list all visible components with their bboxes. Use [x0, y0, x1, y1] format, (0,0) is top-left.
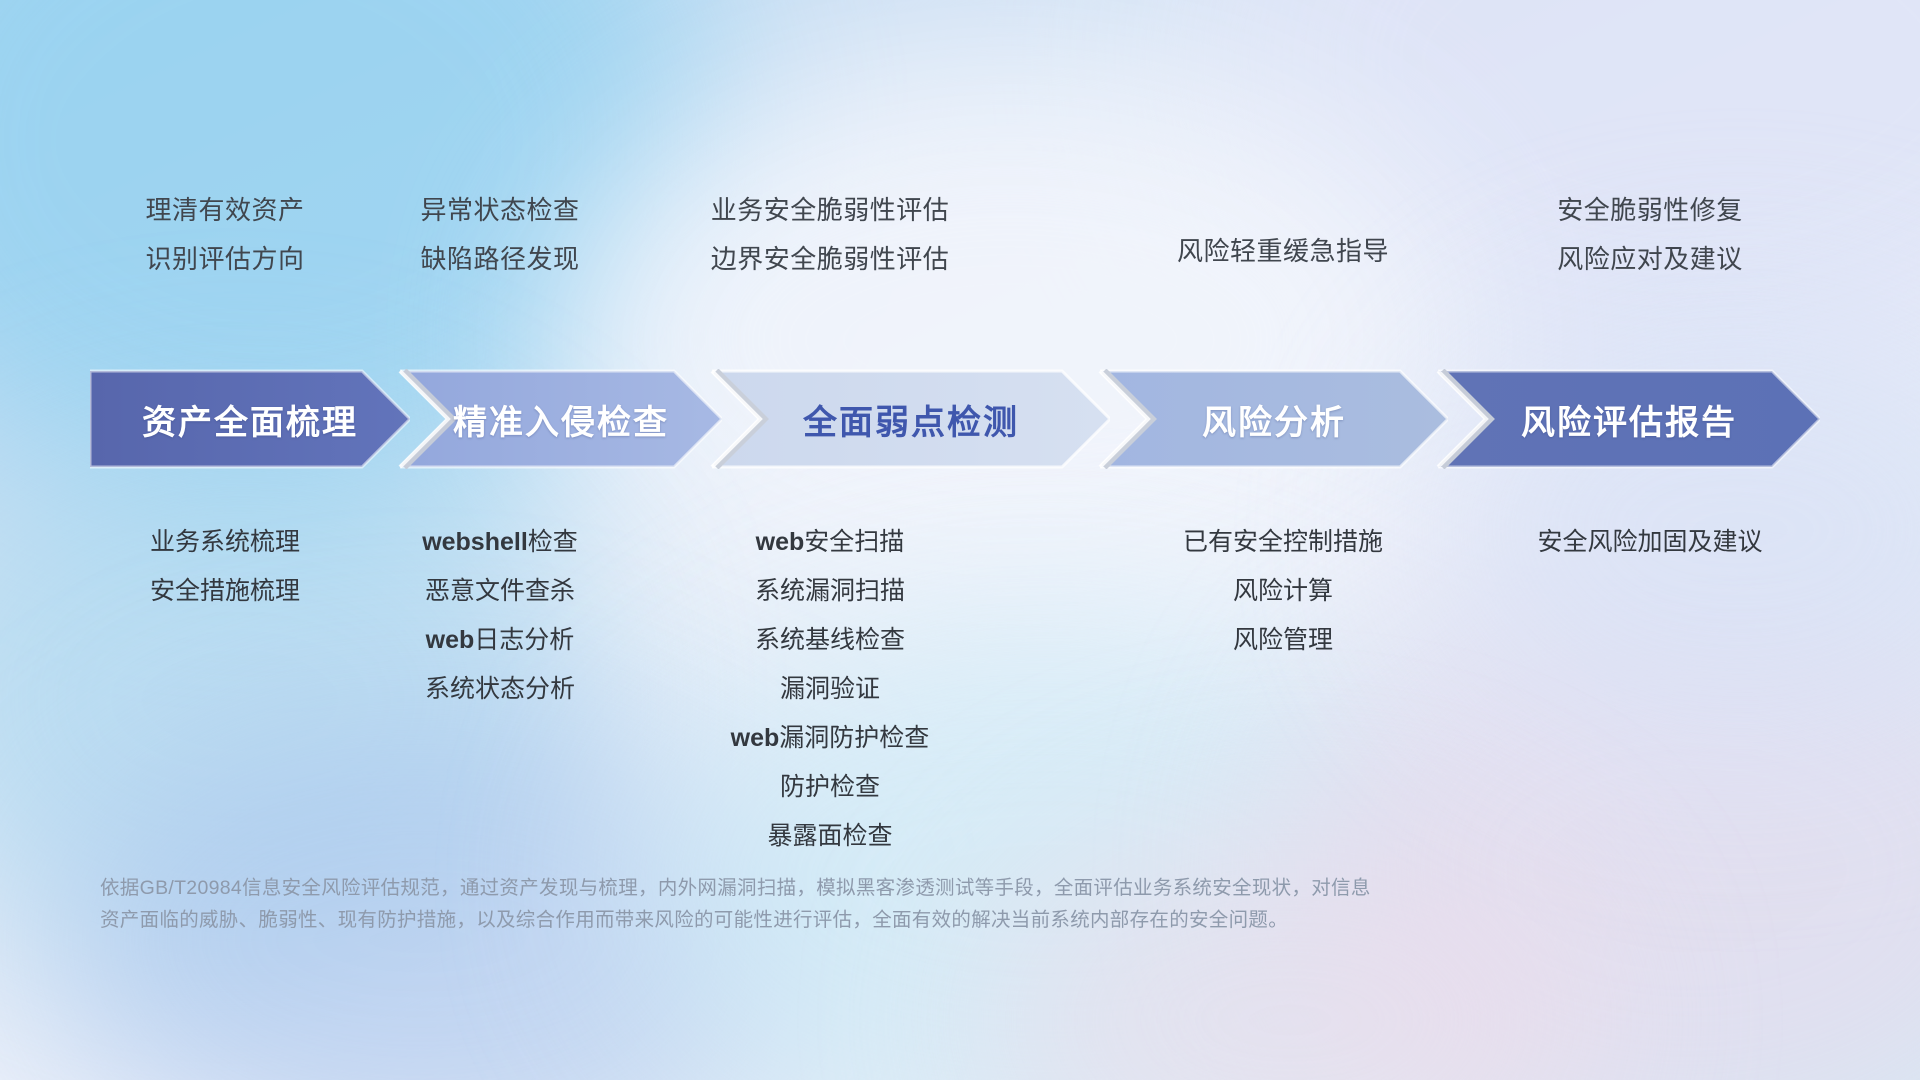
list-item: 系统基线检查: [650, 616, 1010, 665]
chevron-label: 全面弱点检测: [803, 395, 1019, 444]
top-label: 识别评估方向: [75, 235, 375, 284]
bottom-list-stage-1: 业务系统梳理 安全措施梳理: [75, 518, 375, 616]
top-label: 安全脆弱性修复: [1500, 186, 1800, 235]
list-item: 系统状态分析: [355, 665, 645, 714]
top-labels-row: 理清有效资产 识别评估方向 异常状态检查 缺陷路径发现 业务安全脆弱性评估 边界…: [0, 186, 1920, 296]
list-item: 安全风险加固及建议: [1470, 518, 1830, 567]
list-item: web日志分析: [355, 616, 645, 665]
top-label: 风险轻重缓急指导: [1128, 227, 1438, 276]
chevron-connector-4: [1436, 369, 1496, 469]
chevron-connector-2: [710, 369, 770, 469]
bottom-list-stage-4: 已有安全控制措施 风险计算 风险管理: [1128, 518, 1438, 665]
chevron-label: 资产全面梳理: [142, 395, 358, 444]
list-item: 已有安全控制措施: [1128, 518, 1438, 567]
list-item: 风险管理: [1128, 616, 1438, 665]
list-item: 系统漏洞扫描: [650, 567, 1010, 616]
top-labels-stage-1: 理清有效资产 识别评估方向: [75, 186, 375, 284]
top-label: 业务安全脆弱性评估: [650, 186, 1010, 235]
chevron-band: 资产全面梳理 精准入侵检查: [0, 369, 1920, 469]
chevron-stage-3[interactable]: 全面弱点检测: [712, 369, 1110, 469]
top-labels-stage-2: 异常状态检查 缺陷路径发现: [355, 186, 645, 284]
top-labels-stage-4: 风险轻重缓急指导: [1128, 227, 1438, 276]
top-label: 缺陷路径发现: [355, 235, 645, 284]
chevron-label: 精准入侵检查: [453, 395, 669, 444]
chevron-stage-1[interactable]: 资产全面梳理: [90, 369, 410, 469]
list-item: web漏洞防护检查: [650, 714, 1010, 763]
bottom-list-stage-5: 安全风险加固及建议: [1470, 518, 1830, 567]
list-item: web安全扫描: [650, 518, 1010, 567]
top-label: 风险应对及建议: [1500, 235, 1800, 284]
list-item: 暴露面检查: [650, 812, 1010, 861]
chevron-connector-1: [398, 369, 458, 469]
top-label: 异常状态检查: [355, 186, 645, 235]
list-item: 恶意文件查杀: [355, 567, 645, 616]
list-item: webshell检查: [355, 518, 645, 567]
chevron-connector-3: [1098, 369, 1158, 469]
bottom-list-stage-2: webshell检查 恶意文件查杀 web日志分析 系统状态分析: [355, 518, 645, 714]
footer-line: 依据GB/T20984信息安全风险评估规范，通过资产发现与梳理，内外网漏洞扫描，…: [100, 872, 1660, 904]
top-labels-stage-3: 业务安全脆弱性评估 边界安全脆弱性评估: [650, 186, 1010, 284]
chevron-label: 风险分析: [1202, 395, 1346, 444]
process-diagram: 理清有效资产 识别评估方向 异常状态检查 缺陷路径发现 业务安全脆弱性评估 边界…: [0, 0, 1920, 1080]
footer-description: 依据GB/T20984信息安全风险评估规范，通过资产发现与梳理，内外网漏洞扫描，…: [100, 872, 1660, 936]
top-label: 理清有效资产: [75, 186, 375, 235]
top-labels-stage-5: 安全脆弱性修复 风险应对及建议: [1500, 186, 1800, 284]
footer-line: 资产面临的威胁、脆弱性、现有防护措施，以及综合作用而带来风险的可能性进行评估，全…: [100, 904, 1660, 936]
list-item: 业务系统梳理: [75, 518, 375, 567]
top-label: 边界安全脆弱性评估: [650, 235, 1010, 284]
list-item: 防护检查: [650, 763, 1010, 812]
chevron-label: 风险评估报告: [1521, 395, 1737, 444]
bottom-list-stage-3: web安全扫描 系统漏洞扫描 系统基线检查 漏洞验证 web漏洞防护检查 防护检…: [650, 518, 1010, 861]
list-item: 风险计算: [1128, 567, 1438, 616]
list-item: 安全措施梳理: [75, 567, 375, 616]
list-item: 漏洞验证: [650, 665, 1010, 714]
